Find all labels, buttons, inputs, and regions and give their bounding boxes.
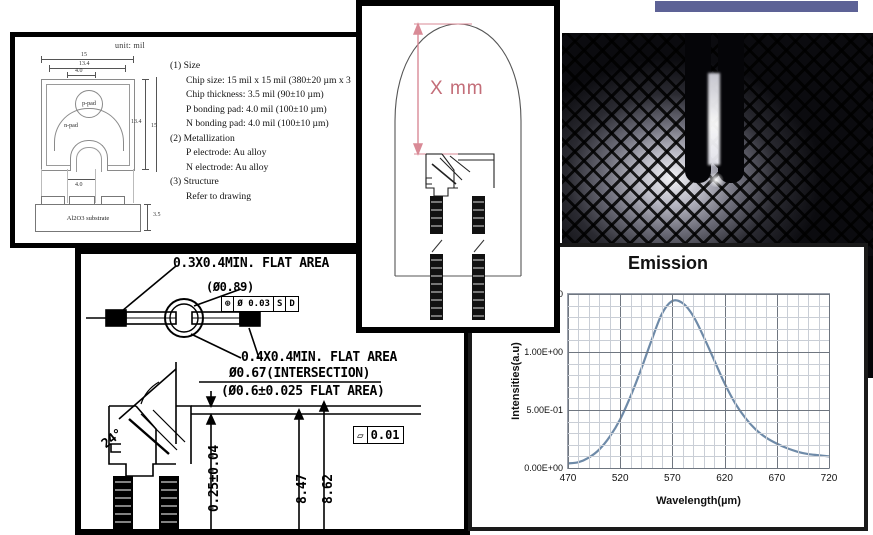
purple-accent-bar	[655, 1, 858, 12]
chip-spec-panel: unit: mil 15 13.4 4.0 p-pad	[10, 32, 362, 248]
chart-gridline-v	[745, 294, 746, 468]
y-axis-label: Intensities(a.u)	[510, 342, 522, 420]
flatness-symbol: ▱	[354, 427, 367, 443]
chart-gridline-v	[704, 294, 705, 468]
chart-gridline-h	[568, 387, 829, 388]
led-emission-hotspot	[708, 73, 720, 165]
chart-x-tick: 720	[821, 473, 838, 484]
chart-gridline-v	[693, 294, 694, 468]
chart-gridline-v	[808, 294, 809, 468]
spec-line-1: Chip size: 15 mil x 15 mil (380±20 µm x …	[186, 74, 357, 89]
position-symbol: ⊕	[222, 297, 233, 311]
chart-gridline-h	[568, 375, 829, 376]
spec-line-8: (3) Structure	[170, 175, 357, 190]
emission-curve	[568, 294, 829, 468]
chart-gridline-h	[568, 468, 829, 469]
chart-y-tick: 1.00E+00	[524, 347, 563, 357]
lamp-outline-panel: X mm	[356, 0, 560, 333]
callout-intersection: Ø0.67(INTERSECTION)	[229, 366, 370, 381]
dim-bottom-pad: 4.0	[75, 182, 83, 188]
led-lead-right	[718, 33, 744, 183]
x-axis-label: Wavelength(µm)	[567, 495, 830, 507]
chart-gridline-v	[735, 294, 736, 468]
chart-gridline-v	[756, 294, 757, 468]
chart-gridline-h	[568, 422, 829, 423]
chart-gridline-v	[683, 294, 684, 468]
led-glow-spot	[707, 173, 725, 187]
chart-gridline-v	[798, 294, 799, 468]
dim-inner-height: 13.4	[131, 119, 142, 125]
chart-gridline-h	[568, 306, 829, 307]
callout-flat-area-tolerance: (Ø0.6±0.025 FLAT AREA)	[221, 384, 384, 399]
callout-flat-area-03: 0.3X0.4MIN. FLAT AREA	[173, 256, 329, 271]
dim-outer-width: 15	[81, 52, 87, 58]
chip-drawing: 15 13.4 4.0 p-pad n-pad	[23, 49, 163, 239]
chart-gridline-v	[662, 294, 663, 468]
spec-line-2: Chip thickness: 3.5 mil (90±10 µm)	[186, 88, 357, 103]
dim-pad-width: 4.0	[75, 68, 83, 74]
chart-gridline-v	[672, 294, 673, 468]
chart-x-tick: 670	[768, 473, 785, 484]
substrate-label: Al2O3 substrate	[35, 204, 141, 232]
chart-gridline-v	[641, 294, 642, 468]
chart-x-tick: 520	[612, 473, 629, 484]
feature-control-frame: ⊕ Ø 0.03 S D	[221, 296, 299, 312]
chart-gridline-h	[568, 340, 829, 341]
chart-gridline-v	[568, 294, 569, 468]
dim-substrate-thickness: 3.5	[153, 212, 161, 218]
chart-gridline-v	[620, 294, 621, 468]
datum-reference: D	[285, 297, 297, 311]
chart-x-tick: 620	[716, 473, 733, 484]
x-mm-dimension-label: X mm	[430, 78, 484, 100]
spec-line-7: N electrode: Au alloy	[186, 161, 357, 176]
spec-line-6: P electrode: Au alloy	[186, 146, 357, 161]
chip-spec-text: (1) Size Chip size: 15 mil x 15 mil (380…	[170, 59, 357, 204]
spec-line-3: P bonding pad: 4.0 mil (100±10 µm)	[186, 103, 357, 118]
spec-line-4: N bonding pad: 4.0 mil (100±10 µm)	[186, 117, 357, 132]
chart-gridline-v	[819, 294, 820, 468]
chart-gridline-v	[631, 294, 632, 468]
led-photo	[562, 33, 873, 256]
chart-gridline-h	[568, 456, 829, 457]
n-pad-label: n-pad	[53, 123, 89, 129]
chart-gridline-h	[568, 445, 829, 446]
chart-gridline-v	[578, 294, 579, 468]
flatness-frame: ▱ 0.01	[353, 426, 404, 444]
composite-figure: unit: mil 15 13.4 4.0 p-pad	[0, 0, 873, 535]
chart-gridline-h	[568, 329, 829, 330]
chart-gridline-v	[777, 294, 778, 468]
chart-x-tick: 470	[560, 473, 577, 484]
dim-thickness: 0.25±0.04	[207, 445, 222, 512]
lamp-cross-section	[362, 6, 554, 327]
chart-gridline-h	[568, 364, 829, 365]
n-pad-shape	[70, 140, 108, 171]
dim-height-847: 8.47	[295, 474, 310, 504]
chart-gridline-v	[714, 294, 715, 468]
chart-gridline-v	[766, 294, 767, 468]
chart-gridline-v	[787, 294, 788, 468]
chart-gridline-v	[829, 294, 830, 468]
chart-x-tick: 570	[664, 473, 681, 484]
callout-flat-area-04: 0.4X0.4MIN. FLAT AREA	[241, 350, 397, 365]
chart-y-tick: 0.00E+00	[524, 463, 563, 473]
flatness-value: 0.01	[367, 427, 403, 443]
chart-gridline-h	[568, 398, 829, 399]
chart-gridline-v	[652, 294, 653, 468]
dim-inner-width: 13.4	[79, 61, 90, 67]
chart-gridline-h	[568, 317, 829, 318]
chart-gridline-v	[589, 294, 590, 468]
spec-line-5: (2) Metallization	[170, 132, 357, 147]
chart-gridline-h	[568, 294, 829, 295]
chart-y-tick: 5.00E-01	[526, 405, 563, 415]
spec-line-0: (1) Size	[170, 59, 357, 74]
chart-gridline-v	[599, 294, 600, 468]
tolerance-value: Ø 0.03	[233, 297, 273, 311]
diameter-note: (Ø0.89)	[206, 280, 254, 294]
chart-gridline-v	[725, 294, 726, 468]
chart-gridline-h	[568, 433, 829, 434]
material-modifier: S	[273, 297, 285, 311]
chart-gridline-h	[568, 410, 829, 411]
dim-height-862: 8.62	[321, 474, 336, 504]
chart-gridline-h	[568, 352, 829, 353]
dim-outer-height: 15	[151, 123, 157, 129]
spec-line-9: Refer to drawing	[186, 190, 357, 205]
chart-plot-area: 4705205706206707200.00E+005.00E-011.00E+…	[567, 293, 830, 469]
chart-gridline-v	[610, 294, 611, 468]
